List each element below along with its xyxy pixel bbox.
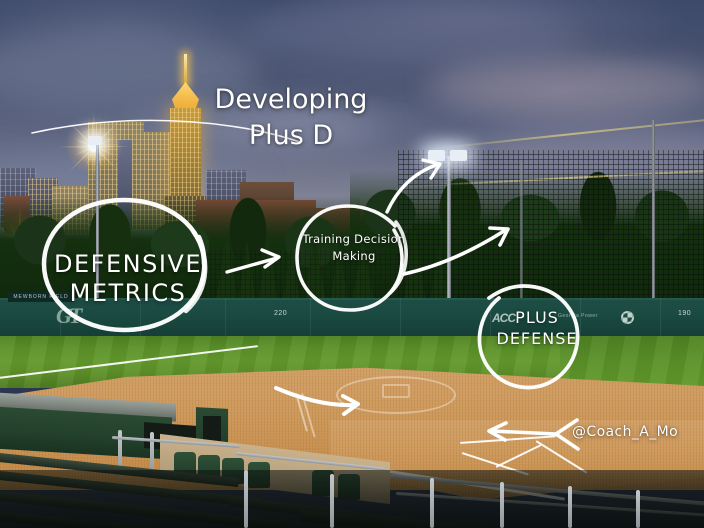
rail-post-a [430,478,434,528]
wall-seam-4 [310,298,311,336]
node-label-plus-defense: PLUS DEFENSE [489,308,585,350]
conifer-9 [430,242,448,302]
light-bank-left-small [88,136,102,145]
net-pole-mid [520,160,523,310]
pitchers-plate [382,384,410,398]
wall-seam-3 [225,298,226,336]
node-label-defensive-metrics: DEFENSIVE METRICS [36,250,220,309]
conifer-2 [238,240,256,302]
node-label-training-decision-making: Training Decision Making [295,231,413,266]
rail-post-b [500,482,504,528]
distance-marker-220: 220 [274,310,287,317]
net-pole-right [652,120,655,310]
rail-post-d [636,490,640,528]
conifer-3 [258,234,278,302]
light-bank-left [428,150,445,161]
tower-spire [184,54,187,84]
light-tower-pole [447,156,451,316]
slide-image: MEWBORN FIELD GT 220 ACC Georgia Power 1… [0,0,704,528]
light-bank-right [450,150,467,161]
author-handle: @Coach_A_Mo [572,424,700,441]
wall-seam-8 [660,298,661,336]
rail-post-f [330,474,334,528]
foreground-shadow [0,470,704,528]
bmw-logo [621,311,634,324]
tower-crown [172,82,199,110]
slide-title: Developing Plus D [196,82,386,155]
rail-post-e [244,470,248,528]
rail-post-c [568,486,572,528]
wall-seam-5 [400,298,401,336]
distance-marker-190: 190 [678,310,691,317]
